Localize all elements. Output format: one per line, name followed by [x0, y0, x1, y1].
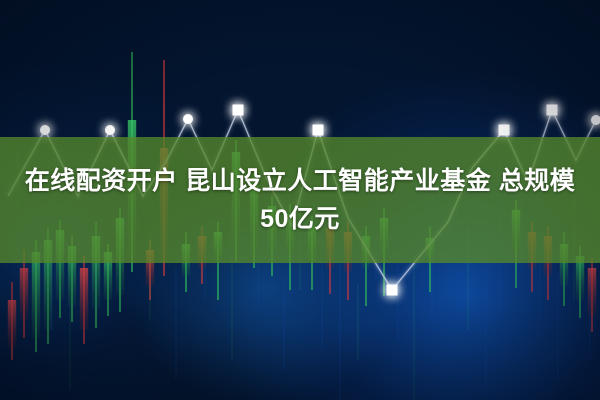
headline-line-1: 在线配资开户 昆山设立人工智能产业基金 总规模	[10, 162, 590, 200]
headline-line-2: 50亿元	[10, 200, 590, 238]
banner-image: 在线配资开户 昆山设立人工智能产业基金 总规模 50亿元	[0, 0, 600, 400]
headline-band: 在线配资开户 昆山设立人工智能产业基金 总规模 50亿元	[0, 137, 600, 263]
headline-text-block: 在线配资开户 昆山设立人工智能产业基金 总规模 50亿元	[10, 162, 590, 238]
